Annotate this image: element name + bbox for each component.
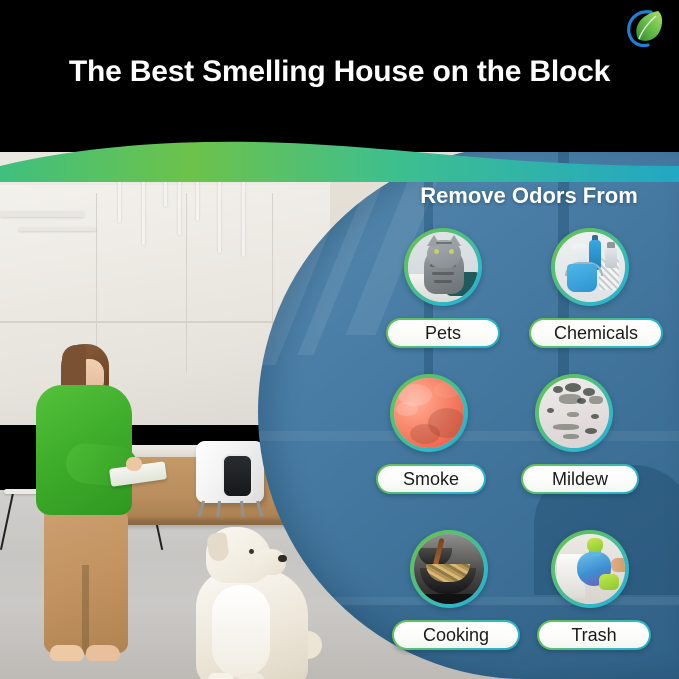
pendant-rod: [142, 145, 145, 245]
woman-foot: [50, 645, 84, 661]
odor-label-text: Cooking: [423, 626, 489, 644]
trash-circle[interactable]: [551, 530, 629, 608]
panel-heading: Remove Odors From: [390, 183, 668, 209]
pendant-rod: [196, 145, 199, 221]
odor-label-text: Smoke: [403, 470, 459, 488]
cabinet-seam: [186, 193, 187, 373]
odor-item-mildew[interactable]: [535, 374, 613, 452]
trash-bag-image: [555, 534, 625, 604]
dog-nose: [278, 555, 287, 562]
odor-label-text: Chemicals: [554, 324, 638, 342]
ceiling-rail: [18, 227, 96, 231]
odor-item-cooking[interactable]: [410, 530, 488, 608]
smoke-image: [394, 378, 464, 448]
pendant-rod: [218, 145, 221, 253]
chemicals-circle[interactable]: [551, 228, 629, 306]
odor-label-text: Mildew: [552, 470, 608, 488]
smoke-pill[interactable]: Smoke: [376, 464, 486, 494]
mildew-pill[interactable]: Mildew: [521, 464, 639, 494]
odor-label-text: Pets: [425, 324, 461, 342]
pendant-rod: [164, 145, 167, 207]
odor-item-smoke[interactable]: [390, 374, 468, 452]
odor-item-chemicals[interactable]: [551, 228, 629, 306]
cat-litter-box-image: [408, 232, 478, 302]
odor-label-mildew[interactable]: Mildew: [521, 464, 639, 494]
ceiling-rail: [0, 211, 84, 217]
odor-label-text: Trash: [571, 626, 616, 644]
dog-snout: [254, 549, 286, 575]
panel-band: [258, 431, 679, 441]
dog-paw: [208, 673, 234, 679]
pendant-rod: [178, 145, 181, 235]
pendant-rod: [118, 145, 121, 223]
odor-label-cooking[interactable]: Cooking: [392, 620, 520, 650]
page-title: The Best Smelling House on the Block: [0, 54, 679, 90]
odor-item-pets[interactable]: [404, 228, 482, 306]
woman-hand: [126, 457, 142, 471]
odor-item-trash[interactable]: [551, 530, 629, 608]
trouser-seam: [82, 565, 89, 655]
mildew-circle[interactable]: [535, 374, 613, 452]
frying-pan-image: [414, 534, 484, 604]
mildew-image: [539, 378, 609, 448]
cleaning-supplies-image: [555, 232, 625, 302]
pendant-rod: [242, 145, 245, 257]
air-purifier-legs: [196, 501, 264, 517]
odor-label-pets[interactable]: Pets: [386, 318, 500, 348]
cooking-pill[interactable]: Cooking: [392, 620, 520, 650]
trash-pill[interactable]: Trash: [537, 620, 651, 650]
product-infographic: The Best Smelling House on the Block Rem…: [0, 0, 679, 679]
air-purifier-vent: [222, 454, 253, 498]
dog-eye: [249, 549, 254, 554]
odor-label-smoke[interactable]: Smoke: [376, 464, 486, 494]
pets-circle[interactable]: [404, 228, 482, 306]
cooking-circle[interactable]: [410, 530, 488, 608]
odor-label-chemicals[interactable]: Chemicals: [529, 318, 663, 348]
odor-label-trash[interactable]: Trash: [537, 620, 651, 650]
chemicals-pill[interactable]: Chemicals: [529, 318, 663, 348]
pets-pill[interactable]: Pets: [386, 318, 500, 348]
leaf-logo: [625, 6, 667, 50]
woman-foot: [86, 645, 120, 661]
header-banner: The Best Smelling House on the Block: [0, 0, 679, 152]
smoke-circle[interactable]: [390, 374, 468, 452]
